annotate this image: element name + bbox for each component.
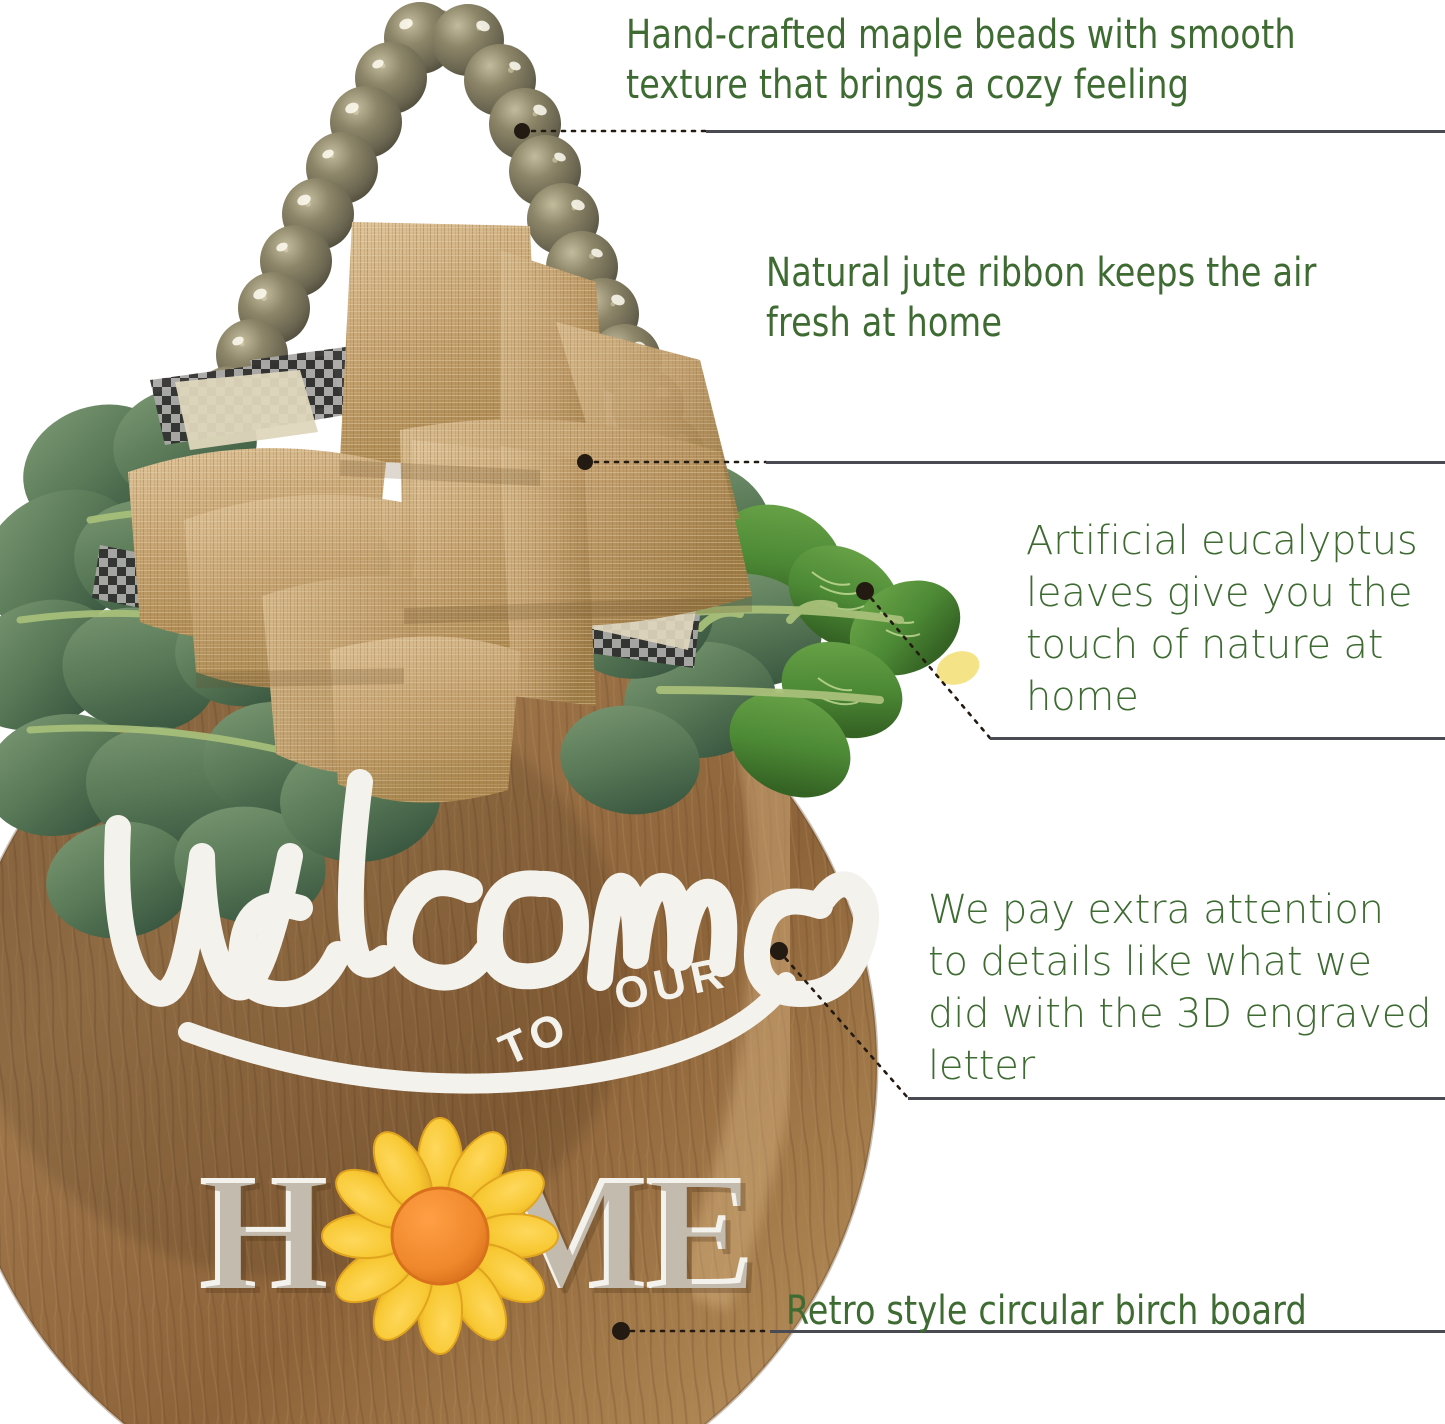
- rule-eucalyptus: [990, 737, 1445, 740]
- callout-eucalyptus-text: Artificial eucalyptus leaves give you th…: [1026, 515, 1445, 723]
- callout-birch-board-text: Retro style circular birch board: [786, 1286, 1400, 1336]
- svg-text:H: H: [203, 1144, 334, 1330]
- rule-beads: [706, 130, 1445, 133]
- callout-jute-ribbon: Natural jute ribbon keeps the air fresh …: [766, 248, 1445, 349]
- callout-birch-board: Retro style circular birch board: [786, 1286, 1445, 1336]
- svg-text:E: E: [649, 1144, 761, 1330]
- rule-jute: [766, 461, 1445, 464]
- rule-engraved: [908, 1097, 1445, 1100]
- callout-engraved-letter-text: We pay extra attention to details like w…: [928, 884, 1445, 1092]
- callout-beads: Hand-crafted maple beads with smooth tex…: [626, 10, 1445, 111]
- callout-beads-text: Hand-crafted maple beads with smooth tex…: [626, 10, 1389, 111]
- callout-jute-ribbon-text: Natural jute ribbon keeps the air fresh …: [766, 248, 1408, 349]
- product-photo: TO OUR H M E HME: [0, 0, 1000, 1424]
- callout-engraved-letter: We pay extra attention to details like w…: [928, 884, 1445, 1092]
- infographic-canvas: TO OUR H M E HME: [0, 0, 1445, 1424]
- callout-eucalyptus: Artificial eucalyptus leaves give you th…: [1026, 515, 1445, 723]
